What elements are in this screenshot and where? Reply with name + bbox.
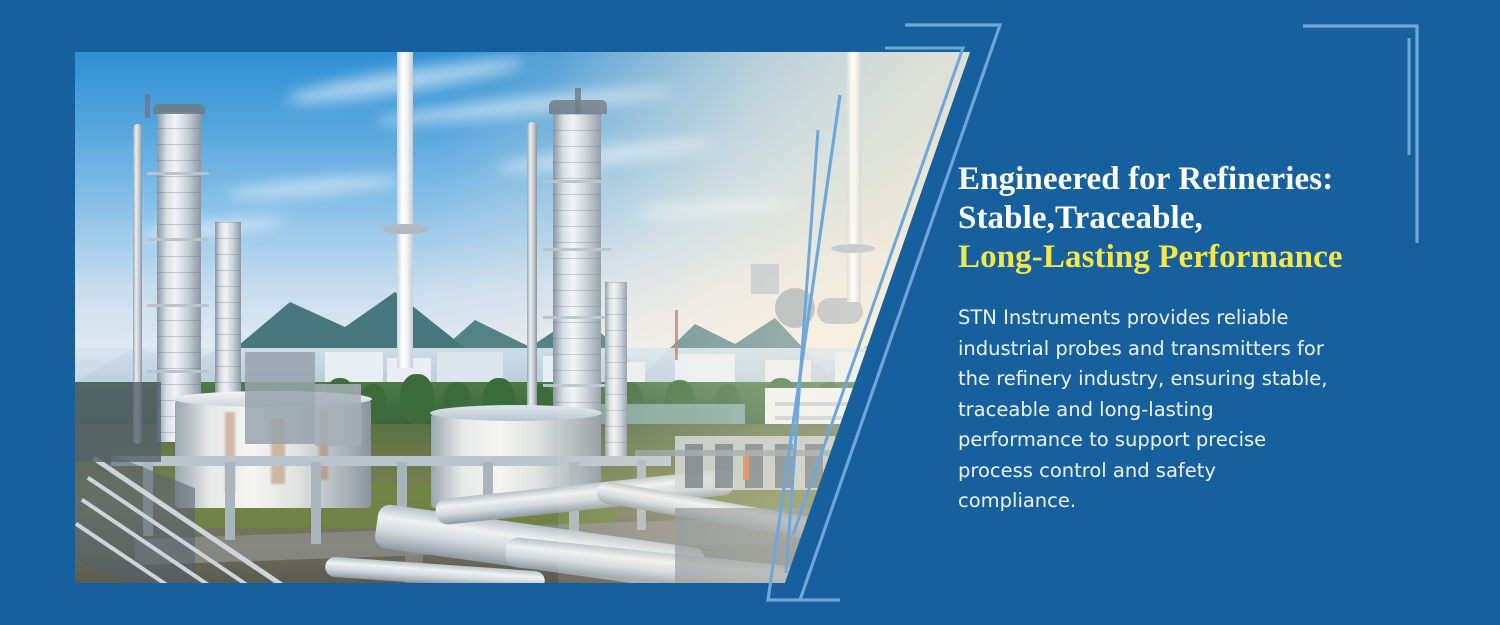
process-unit [75, 382, 161, 462]
distillation-column [157, 112, 201, 442]
headline-line-1: Engineered for Refineries: [958, 160, 1408, 199]
rack-leg [225, 462, 235, 540]
column-mast [145, 94, 150, 118]
text-panel: Engineered for Refineries: Stable,Tracea… [958, 160, 1408, 517]
column-platform [147, 370, 209, 373]
flare-stack [397, 52, 413, 368]
sunlight-glow [558, 52, 970, 583]
refinery-photo [75, 52, 970, 583]
headline-line-3-highlight: Long-Lasting Performance [958, 238, 1408, 277]
photo-canvas [75, 52, 970, 583]
headline-line-2: Stable,Traceable, [958, 199, 1408, 238]
column-platform [147, 304, 209, 307]
hero-banner: Engineered for Refineries: Stable,Tracea… [0, 0, 1500, 625]
column-platform [147, 172, 209, 175]
page-title: Engineered for Refineries: Stable,Tracea… [958, 160, 1408, 277]
body-paragraph: STN Instruments provides reliable indust… [958, 303, 1330, 517]
building [325, 352, 383, 382]
process-unit [245, 352, 315, 444]
rack-leg [311, 462, 321, 544]
column-platform [147, 238, 209, 241]
tree [400, 374, 434, 424]
process-unit [315, 384, 361, 446]
column-head [153, 104, 205, 114]
building [437, 352, 503, 382]
stack-platform [381, 224, 429, 234]
